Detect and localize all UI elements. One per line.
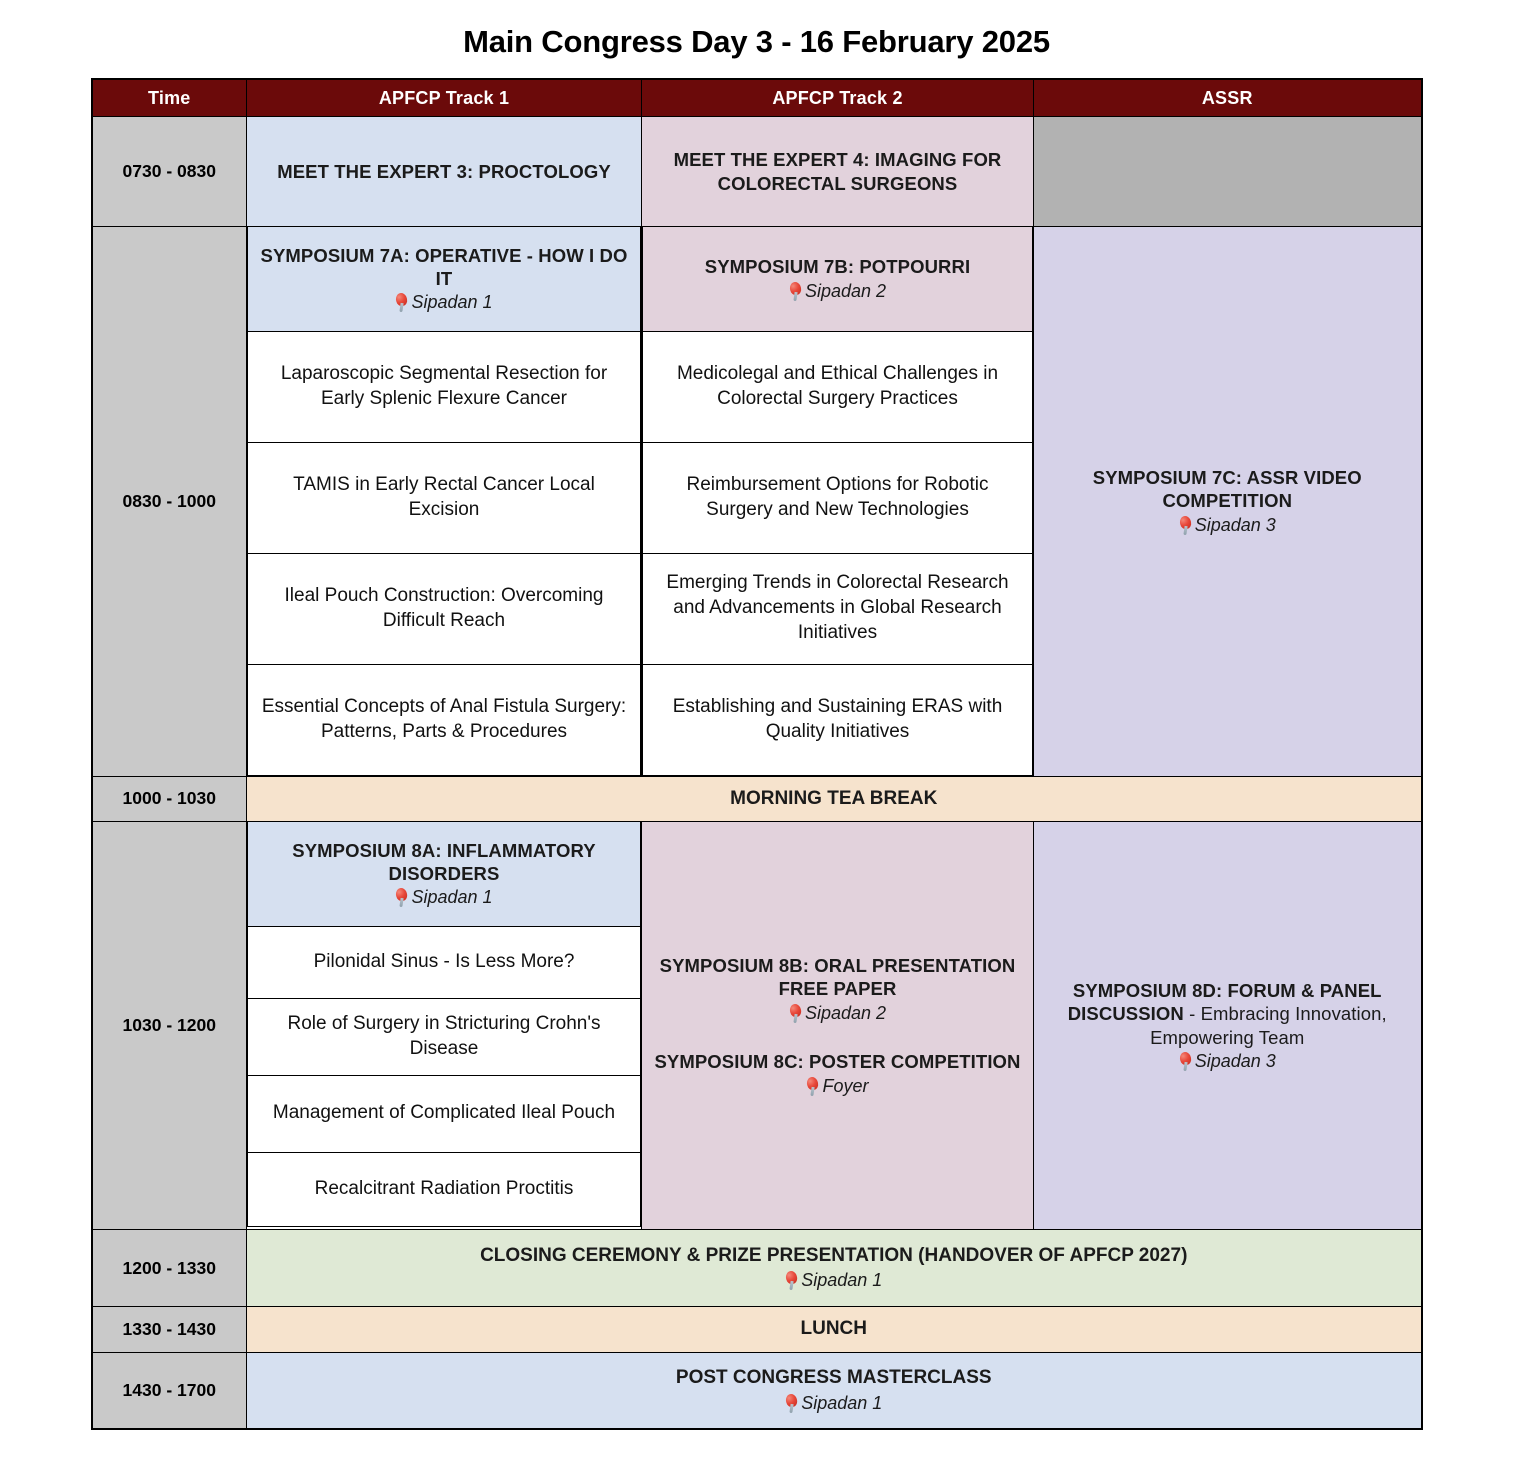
- session-meet-expert-4[interactable]: MEET THE EXPERT 4: IMAGING FOR COLORECTA…: [642, 117, 1034, 227]
- session-title: SYMPOSIUM 7C: ASSR VIDEO COMPETITION: [1044, 466, 1411, 513]
- session-title-8c: SYMPOSIUM 8C: POSTER COMPETITION: [652, 1050, 1023, 1073]
- page-title: Main Congress Day 3 - 16 February 2025: [0, 0, 1513, 78]
- lecture-item[interactable]: TAMIS in Early Rectal Cancer Local Excis…: [248, 442, 641, 553]
- lecture-title: Pilonidal Sinus - Is Less More?: [248, 938, 640, 987]
- lecture-item[interactable]: Emerging Trends in Colorectal Research a…: [643, 553, 1033, 664]
- column-header-track2: APFCP Track 2: [642, 79, 1034, 117]
- session-venue: Sipadan 3: [1044, 1050, 1411, 1073]
- location-pin-icon: [789, 282, 802, 301]
- lecture-item[interactable]: Recalcitrant Radiation Proctitis: [248, 1152, 641, 1226]
- lecture-title: Establishing and Sustaining ERAS with Qu…: [643, 683, 1032, 756]
- session-post-congress-masterclass[interactable]: POST CONGRESS MASTERCLASS Sipadan 1: [247, 1352, 1422, 1429]
- location-pin-icon: [806, 1077, 819, 1096]
- location-pin-icon: [785, 1394, 798, 1413]
- location-pin-icon: [395, 888, 408, 907]
- session-title: MEET THE EXPERT 3: PROCTOLOGY: [257, 160, 631, 183]
- lecture-title: Recalcitrant Radiation Proctitis: [248, 1165, 640, 1214]
- session-venue: Sipadan 1: [255, 1269, 1413, 1292]
- session-symposium-8d[interactable]: SYMPOSIUM 8D: FORUM & PANEL DISCUSSION -…: [1034, 822, 1422, 1230]
- lecture-title: Reimbursement Options for Robotic Surger…: [643, 461, 1032, 534]
- session-meet-expert-3[interactable]: MEET THE EXPERT 3: PROCTOLOGY: [247, 117, 642, 227]
- track2-block-1030[interactable]: SYMPOSIUM 8B: ORAL PRESENTATION FREE PAP…: [642, 822, 1034, 1230]
- break-label: MORNING TEA BREAK: [247, 777, 1421, 822]
- column-header-track1: APFCP Track 1: [247, 79, 642, 117]
- lecture-title: TAMIS in Early Rectal Cancer Local Excis…: [248, 461, 640, 534]
- track1-session-list: SYMPOSIUM 8A: INFLAMMATORY DISORDERS Sip…: [247, 822, 641, 1227]
- session-title: SYMPOSIUM 8A: INFLAMMATORY DISORDERS: [258, 839, 630, 886]
- location-pin-icon: [789, 1004, 802, 1023]
- lecture-item[interactable]: Reimbursement Options for Robotic Surger…: [643, 442, 1033, 553]
- location-pin-icon: [1179, 516, 1192, 535]
- session-title-8b: SYMPOSIUM 8B: ORAL PRESENTATION FREE PAP…: [652, 954, 1023, 1001]
- session-venue: Sipadan 1: [258, 291, 630, 314]
- location-pin-icon: [1179, 1052, 1192, 1071]
- time-slot-1430: 1430 - 1700: [92, 1352, 247, 1429]
- table-row: 1330 - 1430 LUNCH: [92, 1307, 1422, 1353]
- session-venue: Sipadan 2: [652, 1002, 1023, 1025]
- lecture-item[interactable]: Establishing and Sustaining ERAS with Qu…: [643, 664, 1033, 775]
- session-title: CLOSING CEREMONY & PRIZE PRESENTATION (H…: [247, 1234, 1421, 1303]
- session-title: SYMPOSIUM 7B: POTPOURRI: [653, 255, 1022, 278]
- schedule-page: Main Congress Day 3 - 16 February 2025 T…: [0, 0, 1513, 1463]
- track2-session-list: SYMPOSIUM 7B: POTPOURRI Sipadan 2 Medico…: [642, 227, 1033, 776]
- session-closing-ceremony[interactable]: CLOSING CEREMONY & PRIZE PRESENTATION (H…: [247, 1230, 1422, 1307]
- time-slot-1030: 1030 - 1200: [92, 822, 247, 1230]
- track1-block-1030: SYMPOSIUM 8A: INFLAMMATORY DISORDERS Sip…: [247, 822, 642, 1230]
- session-venue: Sipadan 2: [653, 280, 1022, 303]
- session-title: MEET THE EXPERT 4: IMAGING FOR COLORECTA…: [652, 148, 1023, 195]
- time-slot-0730: 0730 - 0830: [92, 117, 247, 227]
- assr-empty-cell: [1034, 117, 1422, 227]
- time-slot-1330: 1330 - 1430: [92, 1307, 247, 1353]
- lecture-item[interactable]: Laparoscopic Segmental Resection for Ear…: [248, 331, 641, 442]
- column-header-time: Time: [92, 79, 247, 117]
- session-symposium-7c[interactable]: SYMPOSIUM 7C: ASSR VIDEO COMPETITION Sip…: [1034, 227, 1422, 777]
- track2-block-0830: SYMPOSIUM 7B: POTPOURRI Sipadan 2 Medico…: [642, 227, 1034, 777]
- lecture-title: Emerging Trends in Colorectal Research a…: [643, 559, 1032, 657]
- lecture-title: Ileal Pouch Construction: Overcoming Dif…: [248, 572, 640, 645]
- lecture-item[interactable]: Role of Surgery in Stricturing Crohn's D…: [248, 998, 641, 1075]
- table-header-row: Time APFCP Track 1 APFCP Track 2 ASSR: [92, 79, 1422, 117]
- session-title: SYMPOSIUM 7A: OPERATIVE - HOW I DO IT: [258, 244, 630, 291]
- table-row: 0830 - 1000 SYMPOSIUM 7A: OPERATIVE - HO…: [92, 227, 1422, 777]
- table-row: 0730 - 0830 MEET THE EXPERT 3: PROCTOLOG…: [92, 117, 1422, 227]
- lecture-item[interactable]: Management of Complicated Ileal Pouch: [248, 1075, 641, 1152]
- location-pin-icon: [395, 293, 408, 312]
- time-slot-1200: 1200 - 1330: [92, 1230, 247, 1307]
- break-label: LUNCH: [247, 1307, 1421, 1352]
- table-row: 1430 - 1700 POST CONGRESS MASTERCLASS Si…: [92, 1352, 1422, 1429]
- session-venue: Sipadan 1: [255, 1392, 1413, 1415]
- track1-session-list: SYMPOSIUM 7A: OPERATIVE - HOW I DO IT Si…: [247, 227, 641, 776]
- session-symposium-7b[interactable]: SYMPOSIUM 7B: POTPOURRI Sipadan 2: [643, 227, 1033, 331]
- congress-schedule-table: Time APFCP Track 1 APFCP Track 2 ASSR 07…: [91, 78, 1423, 1430]
- lecture-title: Role of Surgery in Stricturing Crohn's D…: [248, 1000, 640, 1073]
- column-header-assr: ASSR: [1034, 79, 1422, 117]
- lecture-title: Management of Complicated Ileal Pouch: [248, 1089, 640, 1138]
- lecture-item[interactable]: Medicolegal and Ethical Challenges in Co…: [643, 331, 1033, 442]
- session-title: SYMPOSIUM 8D: FORUM & PANEL DISCUSSION -…: [1044, 979, 1411, 1049]
- break-morning-tea: MORNING TEA BREAK: [247, 776, 1422, 822]
- session-symposium-8a[interactable]: SYMPOSIUM 8A: INFLAMMATORY DISORDERS Sip…: [248, 822, 641, 926]
- location-pin-icon: [785, 1271, 798, 1290]
- lecture-title: Essential Concepts of Anal Fistula Surge…: [248, 683, 640, 756]
- track1-block-0830: SYMPOSIUM 7A: OPERATIVE - HOW I DO IT Si…: [247, 227, 642, 777]
- session-venue: Sipadan 1: [258, 886, 630, 909]
- session-symposium-7a[interactable]: SYMPOSIUM 7A: OPERATIVE - HOW I DO IT Si…: [248, 227, 641, 331]
- table-row: 1030 - 1200 SYMPOSIUM 8A: INFLAMMATORY D…: [92, 822, 1422, 1230]
- table-row: 1000 - 1030 MORNING TEA BREAK: [92, 776, 1422, 822]
- time-slot-1000: 1000 - 1030: [92, 776, 247, 822]
- session-venue: Foyer: [652, 1075, 1023, 1098]
- lecture-title: Laparoscopic Segmental Resection for Ear…: [248, 350, 640, 423]
- lecture-title: Medicolegal and Ethical Challenges in Co…: [643, 350, 1032, 423]
- lecture-item[interactable]: Ileal Pouch Construction: Overcoming Dif…: [248, 553, 641, 664]
- session-title: POST CONGRESS MASTERCLASS Sipadan 1: [247, 1356, 1421, 1425]
- lecture-item[interactable]: Essential Concepts of Anal Fistula Surge…: [248, 664, 641, 775]
- time-slot-0830: 0830 - 1000: [92, 227, 247, 777]
- session-venue: Sipadan 3: [1044, 514, 1411, 537]
- lecture-item[interactable]: Pilonidal Sinus - Is Less More?: [248, 926, 641, 998]
- break-lunch: LUNCH: [247, 1307, 1422, 1353]
- table-row: 1200 - 1330 CLOSING CEREMONY & PRIZE PRE…: [92, 1230, 1422, 1307]
